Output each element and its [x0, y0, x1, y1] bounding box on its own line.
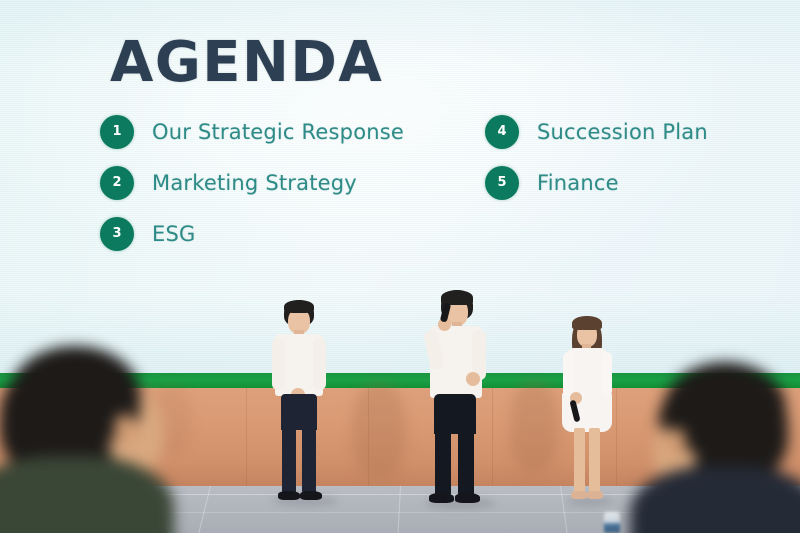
shoe-left	[278, 491, 300, 500]
agenda-item-label: ESG	[152, 222, 195, 246]
trousers	[281, 394, 317, 430]
wall-shadow	[352, 382, 406, 478]
wall-seam	[492, 388, 493, 488]
leg-right	[589, 428, 600, 494]
shoe-left	[571, 491, 587, 499]
arm-left	[563, 352, 574, 396]
leg-left	[574, 428, 585, 494]
floor-line	[560, 486, 569, 533]
hair-top	[572, 316, 602, 330]
shoe-right	[587, 491, 603, 499]
agenda-item-label: Succession Plan	[537, 120, 708, 144]
wall-seam	[246, 388, 247, 488]
audience-ear	[666, 428, 686, 456]
agenda-item-label: Marketing Strategy	[152, 171, 357, 195]
number-badge: 3	[100, 217, 134, 251]
water-bottle	[604, 512, 620, 533]
hand-right	[466, 372, 480, 386]
left-column: 1 Our Strategic Response 2 Marketing Str…	[100, 106, 404, 259]
list-item: 3 ESG	[100, 208, 404, 259]
number-badge: 2	[100, 166, 134, 200]
leg-right	[458, 430, 474, 496]
audience-right	[620, 366, 800, 533]
arm-left	[272, 338, 285, 390]
shoe-left	[429, 493, 454, 503]
leg-left	[282, 426, 296, 494]
shoe-right	[300, 491, 322, 500]
number-badge: 1	[100, 115, 134, 149]
shoe-right	[455, 493, 480, 503]
audience-body	[630, 466, 800, 533]
leg-left	[435, 430, 451, 496]
trousers	[434, 394, 476, 434]
leg-right	[302, 426, 316, 494]
list-item: 4 Succession Plan	[485, 106, 708, 157]
hair-top	[284, 300, 314, 313]
agenda-slide: AGENDA 1 Our Strategic Response 2 Market…	[0, 0, 800, 375]
arm-right	[601, 352, 612, 396]
page-title: AGENDA	[110, 30, 383, 95]
projection-screen: AGENDA 1 Our Strategic Response 2 Market…	[0, 0, 800, 375]
list-item: 1 Our Strategic Response	[100, 106, 404, 157]
agenda-item-label: Our Strategic Response	[152, 120, 404, 144]
arm-right	[313, 338, 326, 390]
right-column: 4 Succession Plan 5 Finance	[485, 106, 708, 208]
audience-left	[0, 352, 240, 533]
wall-seam	[616, 388, 617, 488]
agenda-item-label: Finance	[537, 171, 619, 195]
number-badge: 4	[485, 115, 519, 149]
number-badge: 5	[485, 166, 519, 200]
wall-shadow	[510, 380, 558, 472]
list-item: 5 Finance	[485, 157, 708, 208]
conference-scene: AGENDA 1 Our Strategic Response 2 Market…	[0, 0, 800, 533]
audience-ear	[114, 414, 136, 444]
list-item: 2 Marketing Strategy	[100, 157, 404, 208]
